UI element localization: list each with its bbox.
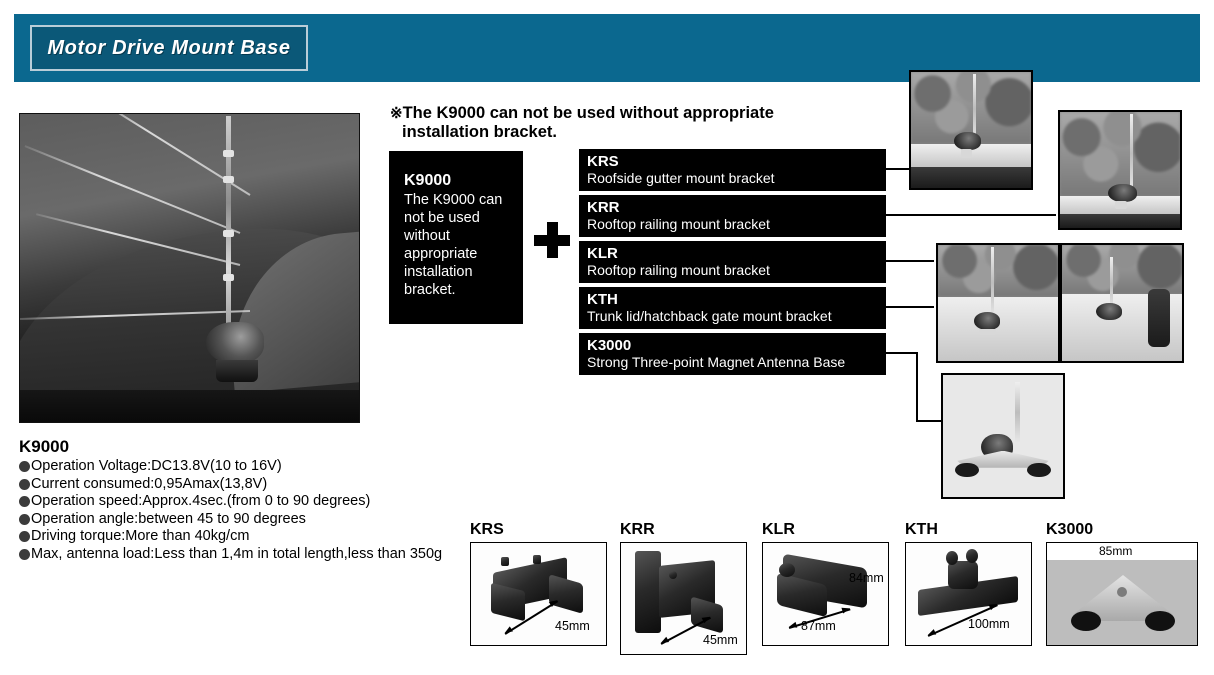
spec-text: Operation speed:Approx.4sec.(from 0 to 9… [31, 493, 370, 511]
gallery-photo-kth: 100mm [905, 542, 1032, 646]
gallery-item-krr: KRR 45mm [620, 521, 747, 655]
warning-line-2: installation bracket. [390, 123, 890, 142]
hero-foreground [20, 390, 360, 423]
leader-line-krs [886, 168, 910, 170]
hero-product-photo [19, 113, 360, 423]
spec-item: Operation angle:between 45 to 90 degrees [19, 511, 489, 529]
hero-mast-joint [223, 150, 234, 157]
photo-mount-foot [979, 329, 996, 336]
bracket-bolt [533, 555, 541, 564]
bracket-eyelet [966, 549, 978, 563]
photo-mount-foot [961, 149, 972, 158]
leader-line-k3000 [886, 352, 918, 354]
bracket-code: KLR [587, 245, 886, 262]
k9000-info-box: K9000 The K9000 can not be used without … [389, 151, 523, 324]
bullet-icon [19, 461, 30, 472]
install-photo-trunk-lid [936, 243, 1060, 363]
gallery-photo-krr: 45mm [620, 542, 747, 655]
photo-magnet-foot [955, 463, 979, 478]
spec-item: Driving torque:More than 40kg/cm [19, 528, 489, 546]
bracket-swivel [948, 561, 978, 589]
bullet-icon [19, 549, 30, 560]
bracket-bolt [501, 557, 509, 566]
gallery-label: KRS [470, 521, 607, 539]
install-photo-roofside-gutter [909, 70, 1033, 190]
spec-item: Max, antenna load:Less than 1,4m in tota… [19, 546, 489, 564]
dimension-label: 45mm [703, 633, 738, 647]
bracket-item-klr[interactable]: KLR Rooftop railing mount bracket [579, 241, 886, 283]
photo-antenna [991, 247, 994, 319]
dimension-label: 100mm [968, 617, 1010, 631]
page-title: Motor Drive Mount Base [47, 37, 290, 60]
bracket-eyelet [779, 563, 795, 577]
spec-text: Driving torque:More than 40kg/cm [31, 528, 249, 546]
photo-motor-unit [1096, 303, 1122, 320]
bracket-description: Rooftop railing mount bracket [587, 216, 886, 233]
photo-magnet-foot [1027, 463, 1051, 478]
bracket-item-krr[interactable]: KRR Rooftop railing mount bracket [579, 195, 886, 237]
hero-mount-base [216, 360, 258, 382]
bracket-code: KRR [587, 199, 886, 216]
photo-motor-unit [954, 132, 980, 149]
bullet-icon [19, 531, 30, 542]
install-photo-magnet-base [941, 373, 1065, 499]
gallery-item-krs: KRS 45mm [470, 521, 607, 646]
gallery-photo-krs: 45mm [470, 542, 607, 646]
hero-mast-joint [223, 230, 234, 237]
photo-background [938, 245, 1058, 297]
k9000-code: K9000 [404, 171, 523, 191]
bracket-description: Trunk lid/hatchback gate mount bracket [587, 308, 886, 325]
hero-mast-joint [223, 176, 234, 183]
spec-text: Current consumed:0,95Amax(13,8V) [31, 476, 267, 494]
spec-item: Operation Voltage:DC13.8V(10 to 16V) [19, 458, 489, 476]
spec-text: Max, antenna load:Less than 1,4m in tota… [31, 546, 442, 564]
bracket-item-krs[interactable]: KRS Roofside gutter mount bracket [579, 149, 886, 191]
spec-text: Operation angle:between 45 to 90 degrees [31, 511, 306, 529]
bracket-code: K3000 [587, 337, 886, 354]
gallery-item-klr: KLR 84mm 87mm [762, 521, 889, 646]
leader-line-k3000-vertical [916, 352, 918, 422]
install-photo-rooftop-railing [1058, 110, 1182, 230]
mount-hole [1117, 587, 1127, 597]
bracket-arm [549, 574, 583, 614]
hero-antenna-mast [226, 116, 231, 334]
gallery-label: KTH [905, 521, 1032, 539]
gallery-label: KRR [620, 521, 747, 539]
photo-motor-unit [974, 312, 1000, 329]
k9000-description: The K9000 can not be used without approp… [404, 191, 509, 299]
bullet-icon [19, 514, 30, 525]
photo-vehicle-pillar [1148, 289, 1170, 347]
photo-background [1060, 112, 1180, 196]
bracket-code: KRS [587, 153, 886, 170]
bullet-icon [19, 479, 30, 490]
bracket-plate [635, 551, 661, 633]
page-title-plate: Motor Drive Mount Base [30, 25, 308, 71]
gallery-label: K3000 [1046, 521, 1198, 539]
specifications-block: K9000 Operation Voltage:DC13.8V(10 to 16… [19, 436, 489, 563]
photo-antenna [1110, 257, 1113, 310]
photo-mount-foot [1115, 201, 1127, 209]
warning-notice: ※The K9000 can not be used without appro… [390, 104, 890, 142]
leader-line-kth [886, 306, 934, 308]
bracket-list: KRS Roofside gutter mount bracket KRR Ro… [579, 149, 886, 379]
dimension-label: 84mm [849, 571, 884, 585]
gallery-photo-k3000: 85mm [1046, 542, 1198, 646]
dimension-label: 85mm [1099, 544, 1132, 558]
gallery-label: KLR [762, 521, 889, 539]
hero-motor-drive-unit [206, 322, 264, 364]
spec-text: Operation Voltage:DC13.8V(10 to 16V) [31, 458, 282, 476]
magnet-foot [1071, 611, 1101, 631]
leader-line-krr [886, 214, 1056, 216]
dimension-label: 87mm [801, 619, 836, 633]
spec-item: Current consumed:0,95Amax(13,8V) [19, 476, 489, 494]
bracket-description: Roofside gutter mount bracket [587, 170, 886, 187]
bullet-icon [19, 496, 30, 507]
photo-antenna [1130, 114, 1133, 193]
photo-vehicle-panel [938, 297, 1058, 361]
photo-motor-unit [1108, 184, 1137, 203]
magnet-foot [1145, 611, 1175, 631]
gallery-item-kth: KTH 100mm [905, 521, 1032, 646]
plus-icon [534, 222, 570, 258]
spec-item: Operation speed:Approx.4sec.(from 0 to 9… [19, 493, 489, 511]
photo-vehicle-body [911, 167, 1031, 188]
bracket-description: Strong Three-point Magnet Antenna Base [587, 354, 886, 371]
photo-background [1062, 245, 1182, 294]
dimension-label: 45mm [555, 619, 590, 633]
bracket-code: KTH [587, 291, 886, 308]
photo-vehicle-body [1060, 214, 1180, 228]
leader-line-klr [886, 260, 934, 262]
gallery-photo-klr: 84mm 87mm [762, 542, 889, 646]
specs-title: K9000 [19, 436, 489, 457]
bracket-item-kth[interactable]: KTH Trunk lid/hatchback gate mount brack… [579, 287, 886, 329]
warning-line-1: The K9000 can not be used without approp… [403, 104, 774, 122]
leader-line-k3000-end [916, 420, 942, 422]
gallery-item-k3000: K3000 85mm [1046, 521, 1198, 646]
hero-mast-joint [223, 274, 234, 281]
install-photo-hatchback-gate [1060, 243, 1184, 363]
bracket-item-k3000[interactable]: K3000 Strong Three-point Magnet Antenna … [579, 333, 886, 375]
bracket-bolt [669, 571, 677, 579]
photo-antenna [1015, 382, 1020, 443]
bracket-description: Rooftop railing mount bracket [587, 262, 886, 279]
reference-mark-icon: ※ [390, 105, 403, 122]
bracket-eyelet [946, 551, 958, 565]
